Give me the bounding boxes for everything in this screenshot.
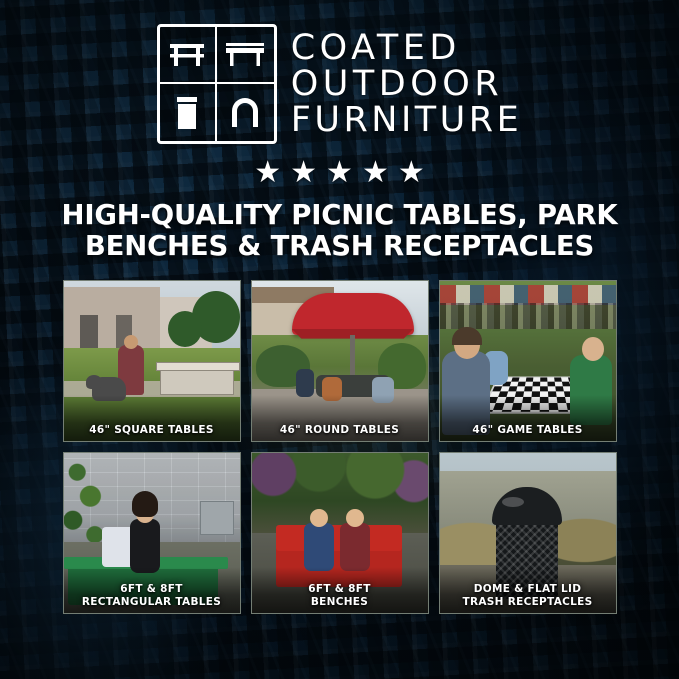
tile-caption-line-2: RECTANGULAR TABLES [67,596,237,608]
logo-mark [157,24,277,144]
tile-caption-line-1: 6FT & 8FT [67,583,237,595]
tile-trash-receptacles[interactable]: DOME & FLAT LID TRASH RECEPTACLES [439,452,617,614]
arch-bench-icon [217,84,274,141]
tile-caption-line-1: 46" ROUND TABLES [255,424,425,436]
tile-caption: 46" ROUND TABLES [252,420,428,441]
trash-receptacle-icon [160,84,217,141]
star-rating: ★ ★ ★ ★ ★ [254,158,425,188]
tile-caption: DOME & FLAT LID TRASH RECEPTACLES [440,579,616,612]
logo-word-furniture: FURNITURE [291,103,523,137]
tile-caption-line-2: TRASH RECEPTACLES [443,596,613,608]
logo-word-outdoor: OUTDOOR [291,67,523,101]
tile-square-tables[interactable]: 46" SQUARE TABLES [63,280,241,442]
tile-game-tables[interactable]: 46" GAME TABLES [439,280,617,442]
star-icon-2: ★ [290,158,317,188]
tile-benches[interactable]: 6FT & 8FT BENCHES [251,452,429,614]
star-icon-4: ★ [362,158,389,188]
tile-caption-line-1: 6FT & 8FT [255,583,425,595]
promo-poster: COATED OUTDOOR FURNITURE ★ ★ ★ ★ ★ HIGH-… [0,0,679,679]
tile-caption-line-1: DOME & FLAT LID [443,583,613,595]
tile-caption: 46" SQUARE TABLES [64,420,240,441]
star-icon-1: ★ [254,158,281,188]
headline-line-1: HIGH-QUALITY PICNIC TABLES, PARK [40,200,640,231]
star-icon-5: ★ [398,158,425,188]
picnic-table-icon [160,27,217,84]
logo-wordmark: COATED OUTDOOR FURNITURE [291,30,523,139]
bench-icon [217,27,274,84]
tile-caption-line-2: BENCHES [255,596,425,608]
star-icon-3: ★ [326,158,353,188]
tile-caption: 6FT & 8FT BENCHES [252,579,428,612]
brand-logo: COATED OUTDOOR FURNITURE [157,24,523,144]
headline-line-2: BENCHES & TRASH RECEPTACLES [40,231,640,262]
tile-round-tables[interactable]: 46" ROUND TABLES [251,280,429,442]
tile-caption: 46" GAME TABLES [440,420,616,441]
tile-caption: 6FT & 8FT RECTANGULAR TABLES [64,579,240,612]
tile-caption-line-1: 46" SQUARE TABLES [67,424,237,436]
poster-content: COATED OUTDOOR FURNITURE ★ ★ ★ ★ ★ HIGH-… [0,0,679,679]
headline: HIGH-QUALITY PICNIC TABLES, PARK BENCHES… [40,200,640,262]
product-grid: 46" SQUARE TABLES [63,280,617,614]
tile-rectangular-tables[interactable]: 6FT & 8FT RECTANGULAR TABLES [63,452,241,614]
tile-caption-line-1: 46" GAME TABLES [443,424,613,436]
logo-word-coated: COATED [291,31,523,65]
